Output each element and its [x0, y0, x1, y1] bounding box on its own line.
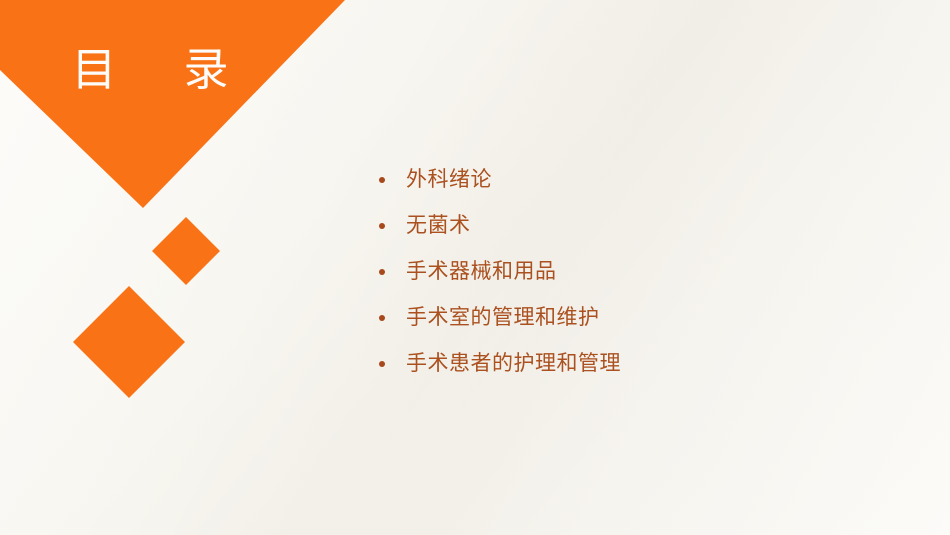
presentation-slide: 目 录 外科绪论 无菌术 手术器械和用品 手术室的管理和维护 手术患者的护理和管… [0, 0, 950, 535]
bullet-dot-icon [379, 361, 385, 367]
list-item[interactable]: 外科绪论 [374, 157, 894, 203]
list-item[interactable]: 手术患者的护理和管理 [374, 341, 894, 387]
orange-corner-wedge-shape [0, 0, 345, 208]
orange-diamond-small-shape [152, 217, 220, 285]
list-item-label: 无菌术 [406, 213, 471, 239]
table-of-contents-list: 外科绪论 无菌术 手术器械和用品 手术室的管理和维护 手术患者的护理和管理 [374, 157, 894, 387]
list-item-label: 手术患者的护理和管理 [406, 351, 621, 377]
list-item[interactable]: 手术室的管理和维护 [374, 295, 894, 341]
list-item[interactable]: 无菌术 [374, 203, 894, 249]
orange-diamond-large-shape [73, 286, 185, 398]
list-item-label: 手术器械和用品 [406, 259, 557, 285]
bullet-dot-icon [379, 223, 385, 229]
page-title: 目 录 [57, 44, 242, 96]
bullet-dot-icon [379, 177, 385, 183]
bullet-dot-icon [379, 269, 385, 275]
list-item-label: 外科绪论 [406, 167, 492, 193]
list-item[interactable]: 手术器械和用品 [374, 249, 894, 295]
bullet-dot-icon [379, 315, 385, 321]
list-item-label: 手术室的管理和维护 [406, 305, 600, 331]
slide-title-block: 目 录 [0, 44, 300, 96]
